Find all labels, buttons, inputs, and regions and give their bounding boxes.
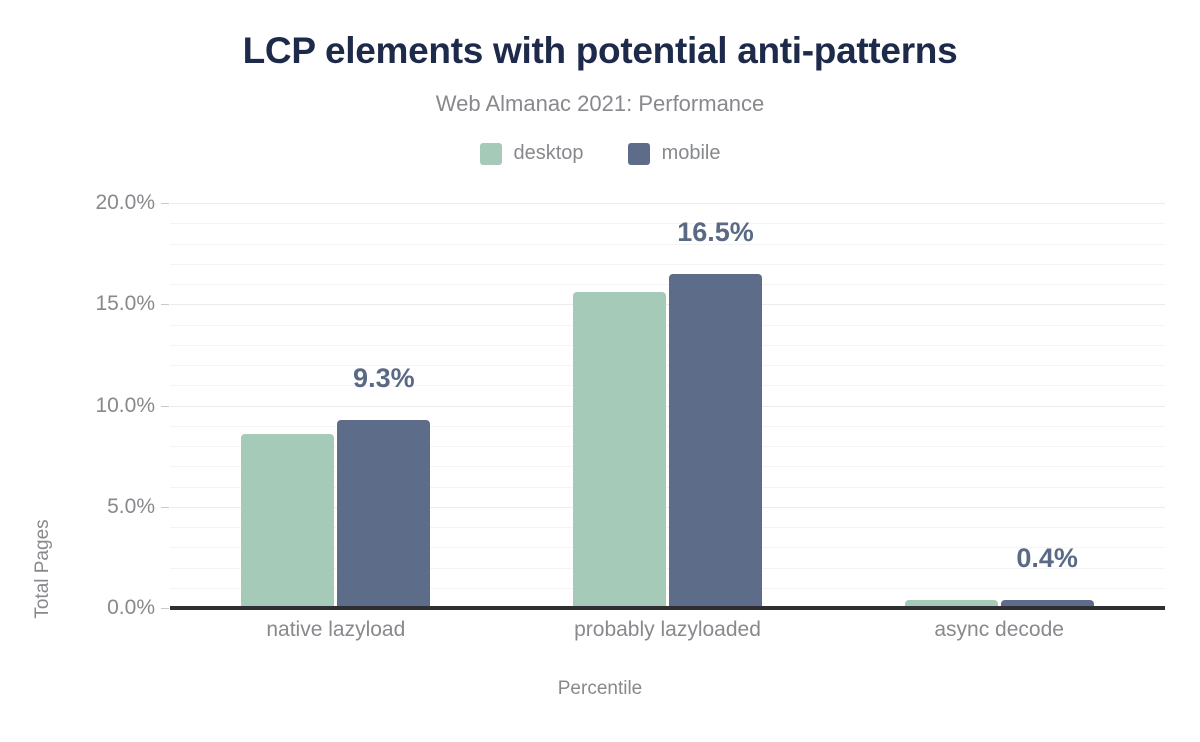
y-axis-tick-mark bbox=[161, 507, 169, 508]
gridline-major bbox=[170, 203, 1165, 204]
y-axis-tick-label: 20.0% bbox=[0, 191, 155, 215]
gridline-minor bbox=[170, 426, 1165, 427]
gridline-minor bbox=[170, 365, 1165, 366]
y-axis-tick-mark bbox=[161, 203, 169, 204]
chart-title: LCP elements with potential anti-pattern… bbox=[0, 30, 1200, 72]
chart-legend: desktop mobile bbox=[0, 142, 1200, 165]
bar-mobile-0[interactable] bbox=[337, 420, 430, 608]
x-axis-tick-label: probably lazyloaded bbox=[574, 618, 761, 642]
gridline-major bbox=[170, 406, 1165, 407]
value-label-1: 16.5% bbox=[677, 217, 754, 248]
bar-mobile-1[interactable] bbox=[669, 274, 762, 608]
x-axis-line bbox=[170, 606, 1165, 610]
gridline-minor bbox=[170, 284, 1165, 285]
gridline-major bbox=[170, 304, 1165, 305]
y-axis-tick-label: 10.0% bbox=[0, 394, 155, 418]
y-axis-tick-label: 5.0% bbox=[0, 495, 155, 519]
chart-subtitle: Web Almanac 2021: Performance bbox=[0, 91, 1200, 117]
y-axis-tick-mark bbox=[161, 406, 169, 407]
bar-desktop-0[interactable] bbox=[241, 434, 334, 608]
value-label-2: 0.4% bbox=[1016, 543, 1078, 574]
gridline-minor bbox=[170, 244, 1165, 245]
bar-desktop-1[interactable] bbox=[573, 292, 666, 608]
x-axis-title: Percentile bbox=[0, 678, 1200, 700]
legend-item-mobile[interactable]: mobile bbox=[628, 142, 721, 165]
x-axis-tick-label: native lazyload bbox=[266, 618, 405, 642]
gridline-minor bbox=[170, 223, 1165, 224]
legend-swatch-mobile bbox=[628, 143, 650, 165]
legend-item-desktop[interactable]: desktop bbox=[480, 142, 584, 165]
x-axis-tick-label: async decode bbox=[934, 618, 1064, 642]
gridline-minor bbox=[170, 385, 1165, 386]
legend-label-mobile: mobile bbox=[662, 142, 721, 165]
y-axis-tick-mark bbox=[161, 608, 169, 609]
value-label-0: 9.3% bbox=[353, 363, 415, 394]
gridline-minor bbox=[170, 264, 1165, 265]
gridline-minor bbox=[170, 345, 1165, 346]
legend-label-desktop: desktop bbox=[514, 142, 584, 165]
gridline-minor bbox=[170, 325, 1165, 326]
y-axis-tick-label: 0.0% bbox=[0, 596, 155, 620]
y-axis-tick-label: 15.0% bbox=[0, 292, 155, 316]
legend-swatch-desktop bbox=[480, 143, 502, 165]
bar-chart: LCP elements with potential anti-pattern… bbox=[0, 0, 1200, 742]
y-axis: Total Pages 0.0%5.0%10.0%15.0%20.0% bbox=[0, 203, 155, 608]
y-axis-tick-mark bbox=[161, 304, 169, 305]
